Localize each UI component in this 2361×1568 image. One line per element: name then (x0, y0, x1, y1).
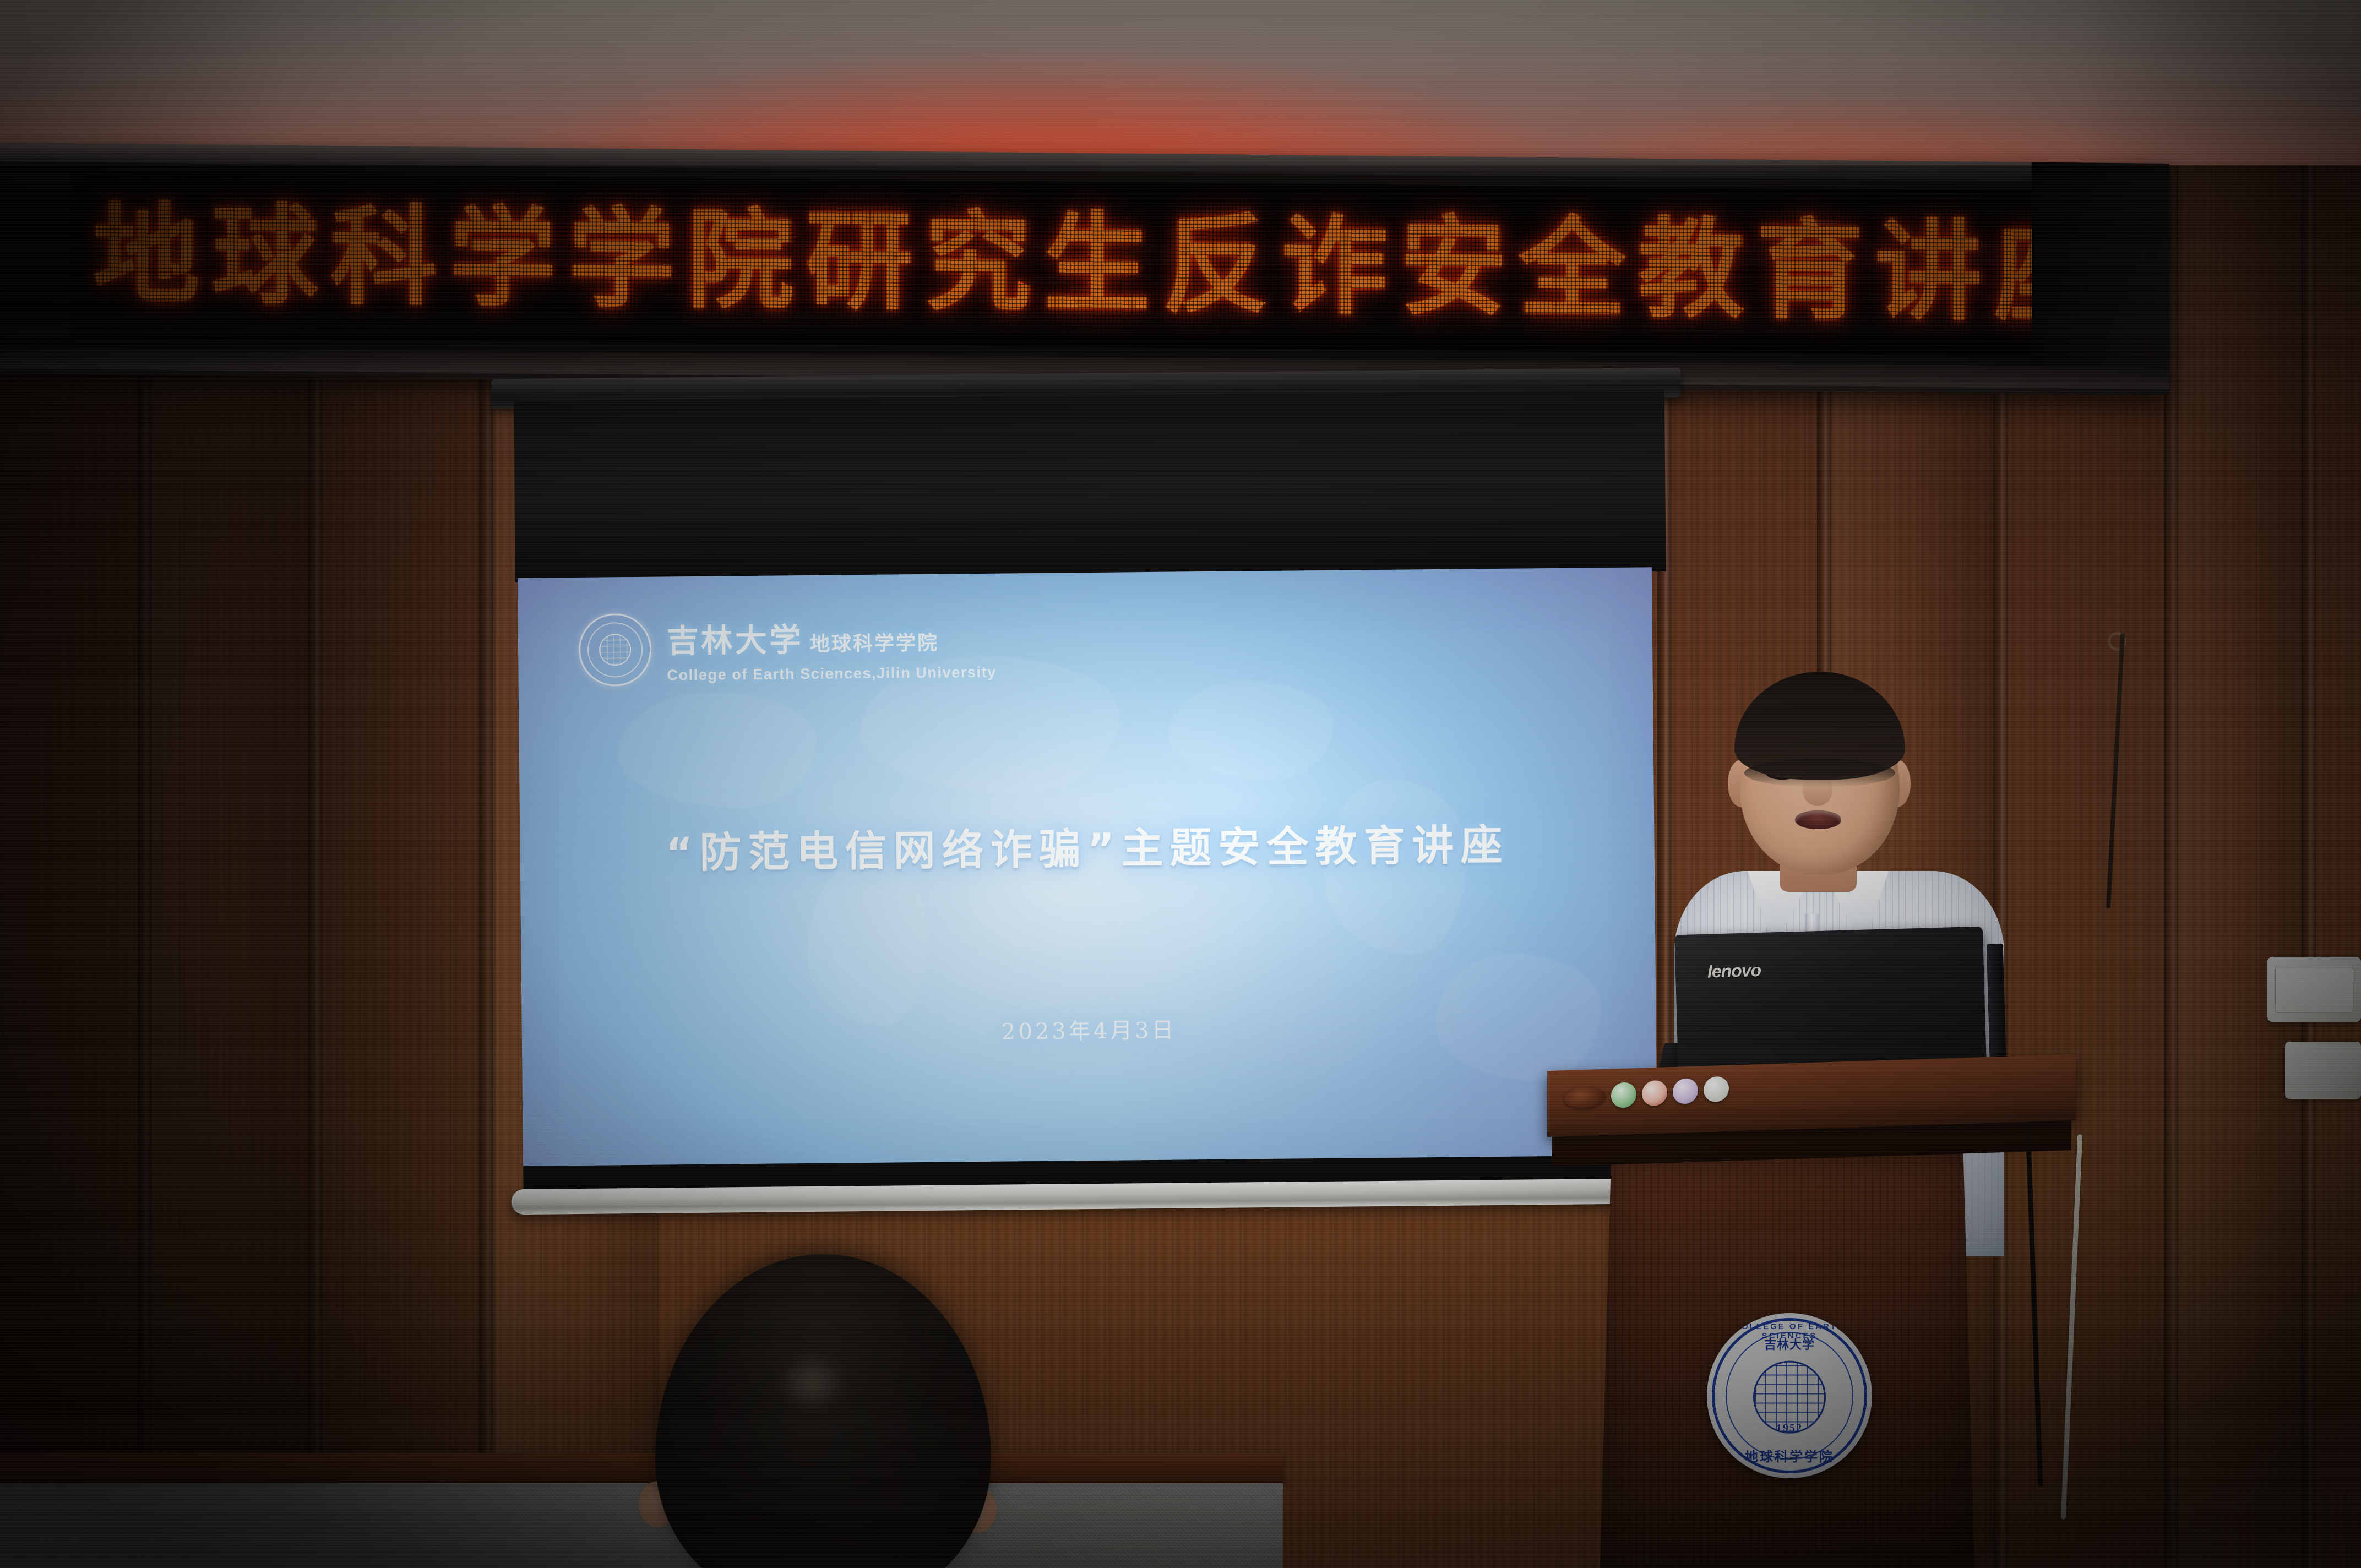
badge-oval-wood[interactable] (1564, 1086, 1606, 1109)
presenter-hair (1734, 672, 1905, 780)
emblem-cn-bottom: 地球科学学院 (1707, 1446, 1872, 1465)
projected-slide: 吉林大学 地球科学学院 College of Earth Sciences,Ji… (518, 567, 1658, 1189)
light-switch-lower-icon[interactable] (2285, 1042, 2361, 1099)
slide-logo-chinese: 吉林大学 地球科学学院 (666, 612, 996, 661)
laptop-lid[interactable]: lenovo (1674, 927, 1987, 1073)
podium-badges[interactable] (1564, 1076, 1729, 1112)
slide-logo-cn-sub: 地球科学学院 (810, 627, 939, 656)
podium: COLLEGE OF EARTH SCIENCES 吉林大学 1952 地球科学… (1547, 1063, 2076, 1568)
badge-violet[interactable] (1673, 1078, 1698, 1105)
lenovo-logo: lenovo (1707, 960, 1761, 982)
projection-screen: 吉林大学 地球科学学院 College of Earth Sciences,Ji… (514, 380, 1673, 1250)
badge-red[interactable] (1642, 1080, 1667, 1107)
slide-logo: 吉林大学 地球科学学院 College of Earth Sciences,Ji… (578, 610, 997, 687)
podium-emblem: COLLEGE OF EARTH SCIENCES 吉林大学 1952 地球科学… (1707, 1313, 1872, 1478)
laptop-hinge (1987, 944, 2006, 1064)
slide-title: “防范电信网络诈骗”主题安全教育讲座 (520, 809, 1655, 881)
emblem-year: 1952 (1707, 1422, 1872, 1435)
led-banner-screen: 地球科学学院研究生反诈安全教育讲座 (72, 172, 2032, 356)
emblem-cn-top: 吉林大学 (1707, 1335, 1872, 1353)
lecture-hall-photo: 地球科学学院研究生反诈安全教育讲座 吉林大学 地球科学学院 (0, 0, 2361, 1568)
badge-green[interactable] (1611, 1082, 1636, 1109)
led-banner-right-cap (2032, 162, 2169, 389)
slide-logo-english: College of Earth Sciences,Jilin Universi… (667, 663, 997, 684)
presenter-mouth (1795, 810, 1841, 829)
led-banner-text: 地球科学学院研究生反诈安全教育讲座 (82, 201, 2032, 328)
projection-screen-black-header (514, 390, 1666, 582)
badge-plain[interactable] (1704, 1076, 1729, 1103)
slide-logo-cn-main: 吉林大学 (666, 614, 803, 661)
led-banner: 地球科学学院研究生反诈安全教育讲座 (0, 143, 2169, 395)
light-switch-icon[interactable] (2267, 957, 2361, 1022)
university-seal-icon (578, 613, 651, 687)
baseboard (0, 1453, 1283, 1485)
